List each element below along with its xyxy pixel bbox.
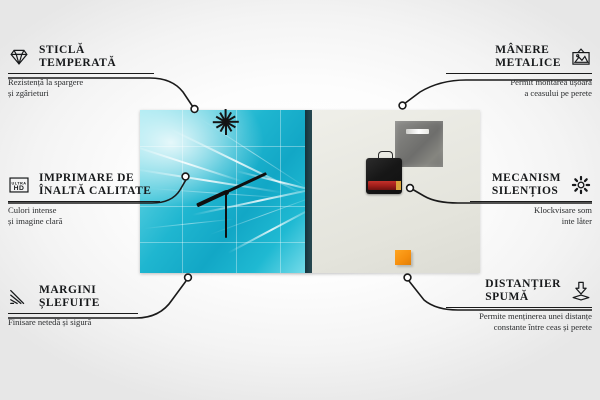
callout-subtitle: Klockvisare som inte låter <box>470 205 592 226</box>
hand-hub <box>224 190 229 195</box>
callout-header: MECANISM SILENȚIOS <box>470 172 592 198</box>
callout-header: MÂNERE METALICE <box>446 44 592 70</box>
infographic-canvas: STICLĂ TEMPERATĂ Rezistență la spargere … <box>0 0 600 400</box>
gear-icon <box>570 174 592 196</box>
callout-header: MARGINI ȘLEFUITE <box>8 284 138 310</box>
callout-header: ultra HD IMPRIMARE DE ÎNALTĂ CALITATE <box>8 172 160 198</box>
picture-hanger-icon <box>570 46 592 68</box>
polished-edges-icon <box>8 286 30 308</box>
callout-header: STICLĂ TEMPERATĂ <box>8 44 154 70</box>
callout-subtitle: Culori intense și imagine clară <box>8 205 160 226</box>
battery <box>368 181 399 190</box>
hanger-slot <box>406 129 429 134</box>
callout-sticla-temperata: STICLĂ TEMPERATĂ Rezistență la spargere … <box>8 44 154 98</box>
callout-imprimare-hd: ultra HD IMPRIMARE DE ÎNALTĂ CALITATE Cu… <box>8 172 160 226</box>
ultra-hd-icon: ultra HD <box>8 174 30 196</box>
callout-mecanism-silentios: MECANISM SILENȚIOS Klockvisare som inte … <box>470 172 592 226</box>
callout-rule <box>446 73 592 74</box>
callout-manere-metalice: MÂNERE METALICE Permit montarea ușoară a… <box>446 44 592 98</box>
callout-subtitle: Permit montarea ușoară a ceasului pe per… <box>446 77 592 98</box>
callout-rule <box>8 73 154 74</box>
callout-title: MÂNERE METALICE <box>495 44 561 70</box>
callout-subtitle: Rezistență la spargere și zgârieturi <box>8 77 154 98</box>
callout-title: IMPRIMARE DE ÎNALTĂ CALITATE <box>39 172 151 198</box>
foam-spacer <box>395 250 411 265</box>
callout-title: MECANISM SILENȚIOS <box>492 172 561 198</box>
spacer-arrow-icon <box>570 280 592 302</box>
callout-rule <box>8 313 138 314</box>
diamond-icon <box>8 46 30 68</box>
callout-distantier-spuma: DISTANȚIER SPUMĂ Permite menținerea unei… <box>446 278 592 332</box>
callout-rule <box>8 201 160 202</box>
second-hand <box>225 192 226 238</box>
battery-terminal <box>396 181 401 190</box>
callout-subtitle: Finisare netedă și sigură <box>8 317 138 327</box>
callout-rule <box>470 201 592 202</box>
callout-title: STICLĂ TEMPERATĂ <box>39 44 116 70</box>
callout-subtitle: Permite menținerea unei distanțe constan… <box>446 311 592 332</box>
callout-margini-slefuite: MARGINI ȘLEFUITE Finisare netedă și sigu… <box>8 284 138 328</box>
callout-title: DISTANȚIER SPUMĂ <box>485 278 561 304</box>
glass-panel-edge <box>305 110 312 273</box>
callout-rule <box>446 307 592 308</box>
callout-header: DISTANȚIER SPUMĂ <box>446 278 592 304</box>
svg-text:HD: HD <box>14 185 25 192</box>
clock-back-panel <box>312 110 480 273</box>
callout-title: MARGINI ȘLEFUITE <box>39 284 100 310</box>
hanger-plate <box>395 121 443 167</box>
